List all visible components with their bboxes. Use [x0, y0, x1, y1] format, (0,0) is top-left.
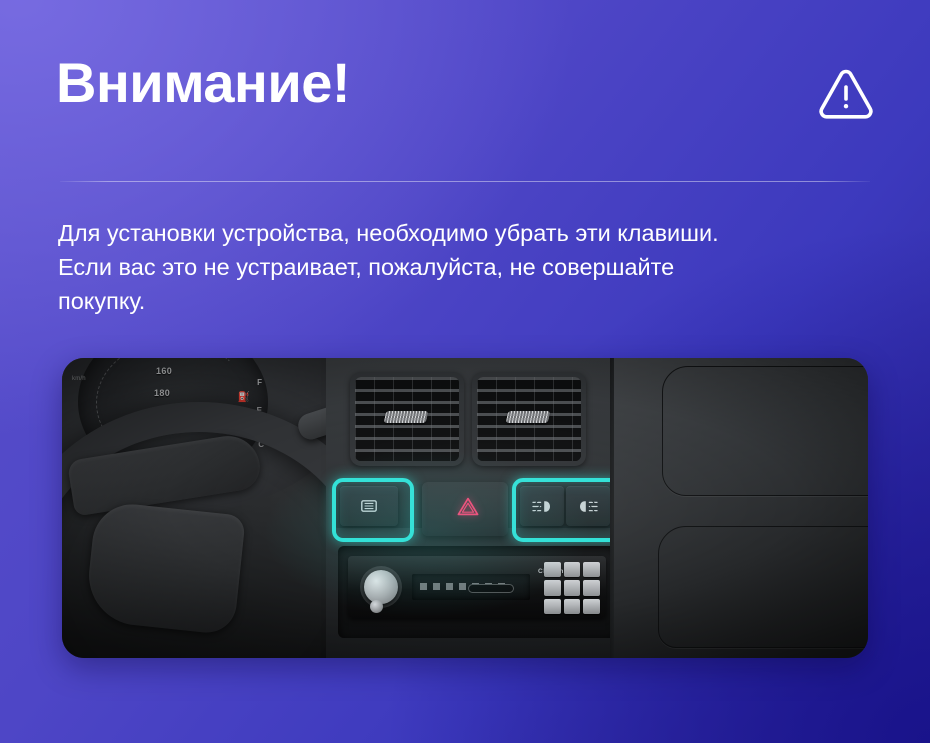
radio-preset-button[interactable]	[583, 599, 600, 614]
radio-preset-button[interactable]	[544, 562, 561, 577]
notice-line-3: покупку.	[58, 284, 858, 318]
airbag-panel-seam-upper	[662, 366, 868, 496]
volume-knob-icon[interactable]	[364, 570, 398, 604]
speedometer-tick-160: 160	[156, 366, 172, 376]
radio-preset-button[interactable]	[564, 562, 581, 577]
cd-slot-icon	[468, 584, 514, 593]
secondary-knob-icon[interactable]	[370, 600, 383, 613]
dashboard-photo: km/h 140 160 180 200 ⛽ ♨ F E C	[62, 358, 868, 658]
radio-preset-button[interactable]	[564, 599, 581, 614]
air-vent-right-adjuster	[506, 411, 551, 423]
hazard-triangle-icon	[457, 497, 479, 515]
highlight-defroster-switch	[332, 478, 414, 542]
glovebox-seam-lower	[658, 526, 868, 648]
car-radio-head-unit: Clarion	[348, 556, 606, 618]
dashboard-photo-image: km/h 140 160 180 200 ⛽ ♨ F E C	[62, 358, 868, 658]
highlight-fog-light-switches	[512, 478, 626, 542]
radio-preset-buttons[interactable]	[544, 562, 600, 614]
notice-line-1: Для установки устройства, необходимо убр…	[58, 216, 858, 250]
center-console: Clarion	[326, 358, 626, 658]
fuel-pump-icon: ⛽	[238, 392, 250, 403]
notice-line-2: Если вас это не устраивает, пожалуйста, …	[58, 250, 858, 284]
warning-triangle-icon	[814, 62, 878, 126]
speedometer-tick-180: 180	[154, 388, 170, 398]
radio-preset-button[interactable]	[544, 580, 561, 595]
radio-preset-button[interactable]	[564, 580, 581, 595]
fuel-gauge-letter-f: F	[257, 378, 262, 387]
head-unit-bay: Clarion	[338, 546, 616, 638]
attention-notice-page: Внимание! Для установки устройства, необ…	[0, 0, 930, 743]
header-divider	[60, 181, 870, 182]
notice-text: Для установки устройства, необходимо убр…	[58, 216, 858, 318]
steering-wheel-spoke-lower	[84, 500, 246, 635]
air-vent-left	[350, 372, 464, 466]
air-vent-right	[472, 372, 586, 466]
radio-preset-button[interactable]	[544, 599, 561, 614]
page-title: Внимание!	[56, 52, 350, 114]
speedometer-unit-label: km/h	[72, 376, 86, 382]
radio-preset-button[interactable]	[583, 580, 600, 595]
page-header: Внимание!	[0, 0, 930, 178]
radio-preset-button[interactable]	[583, 562, 600, 577]
air-vent-left-adjuster	[384, 411, 429, 423]
